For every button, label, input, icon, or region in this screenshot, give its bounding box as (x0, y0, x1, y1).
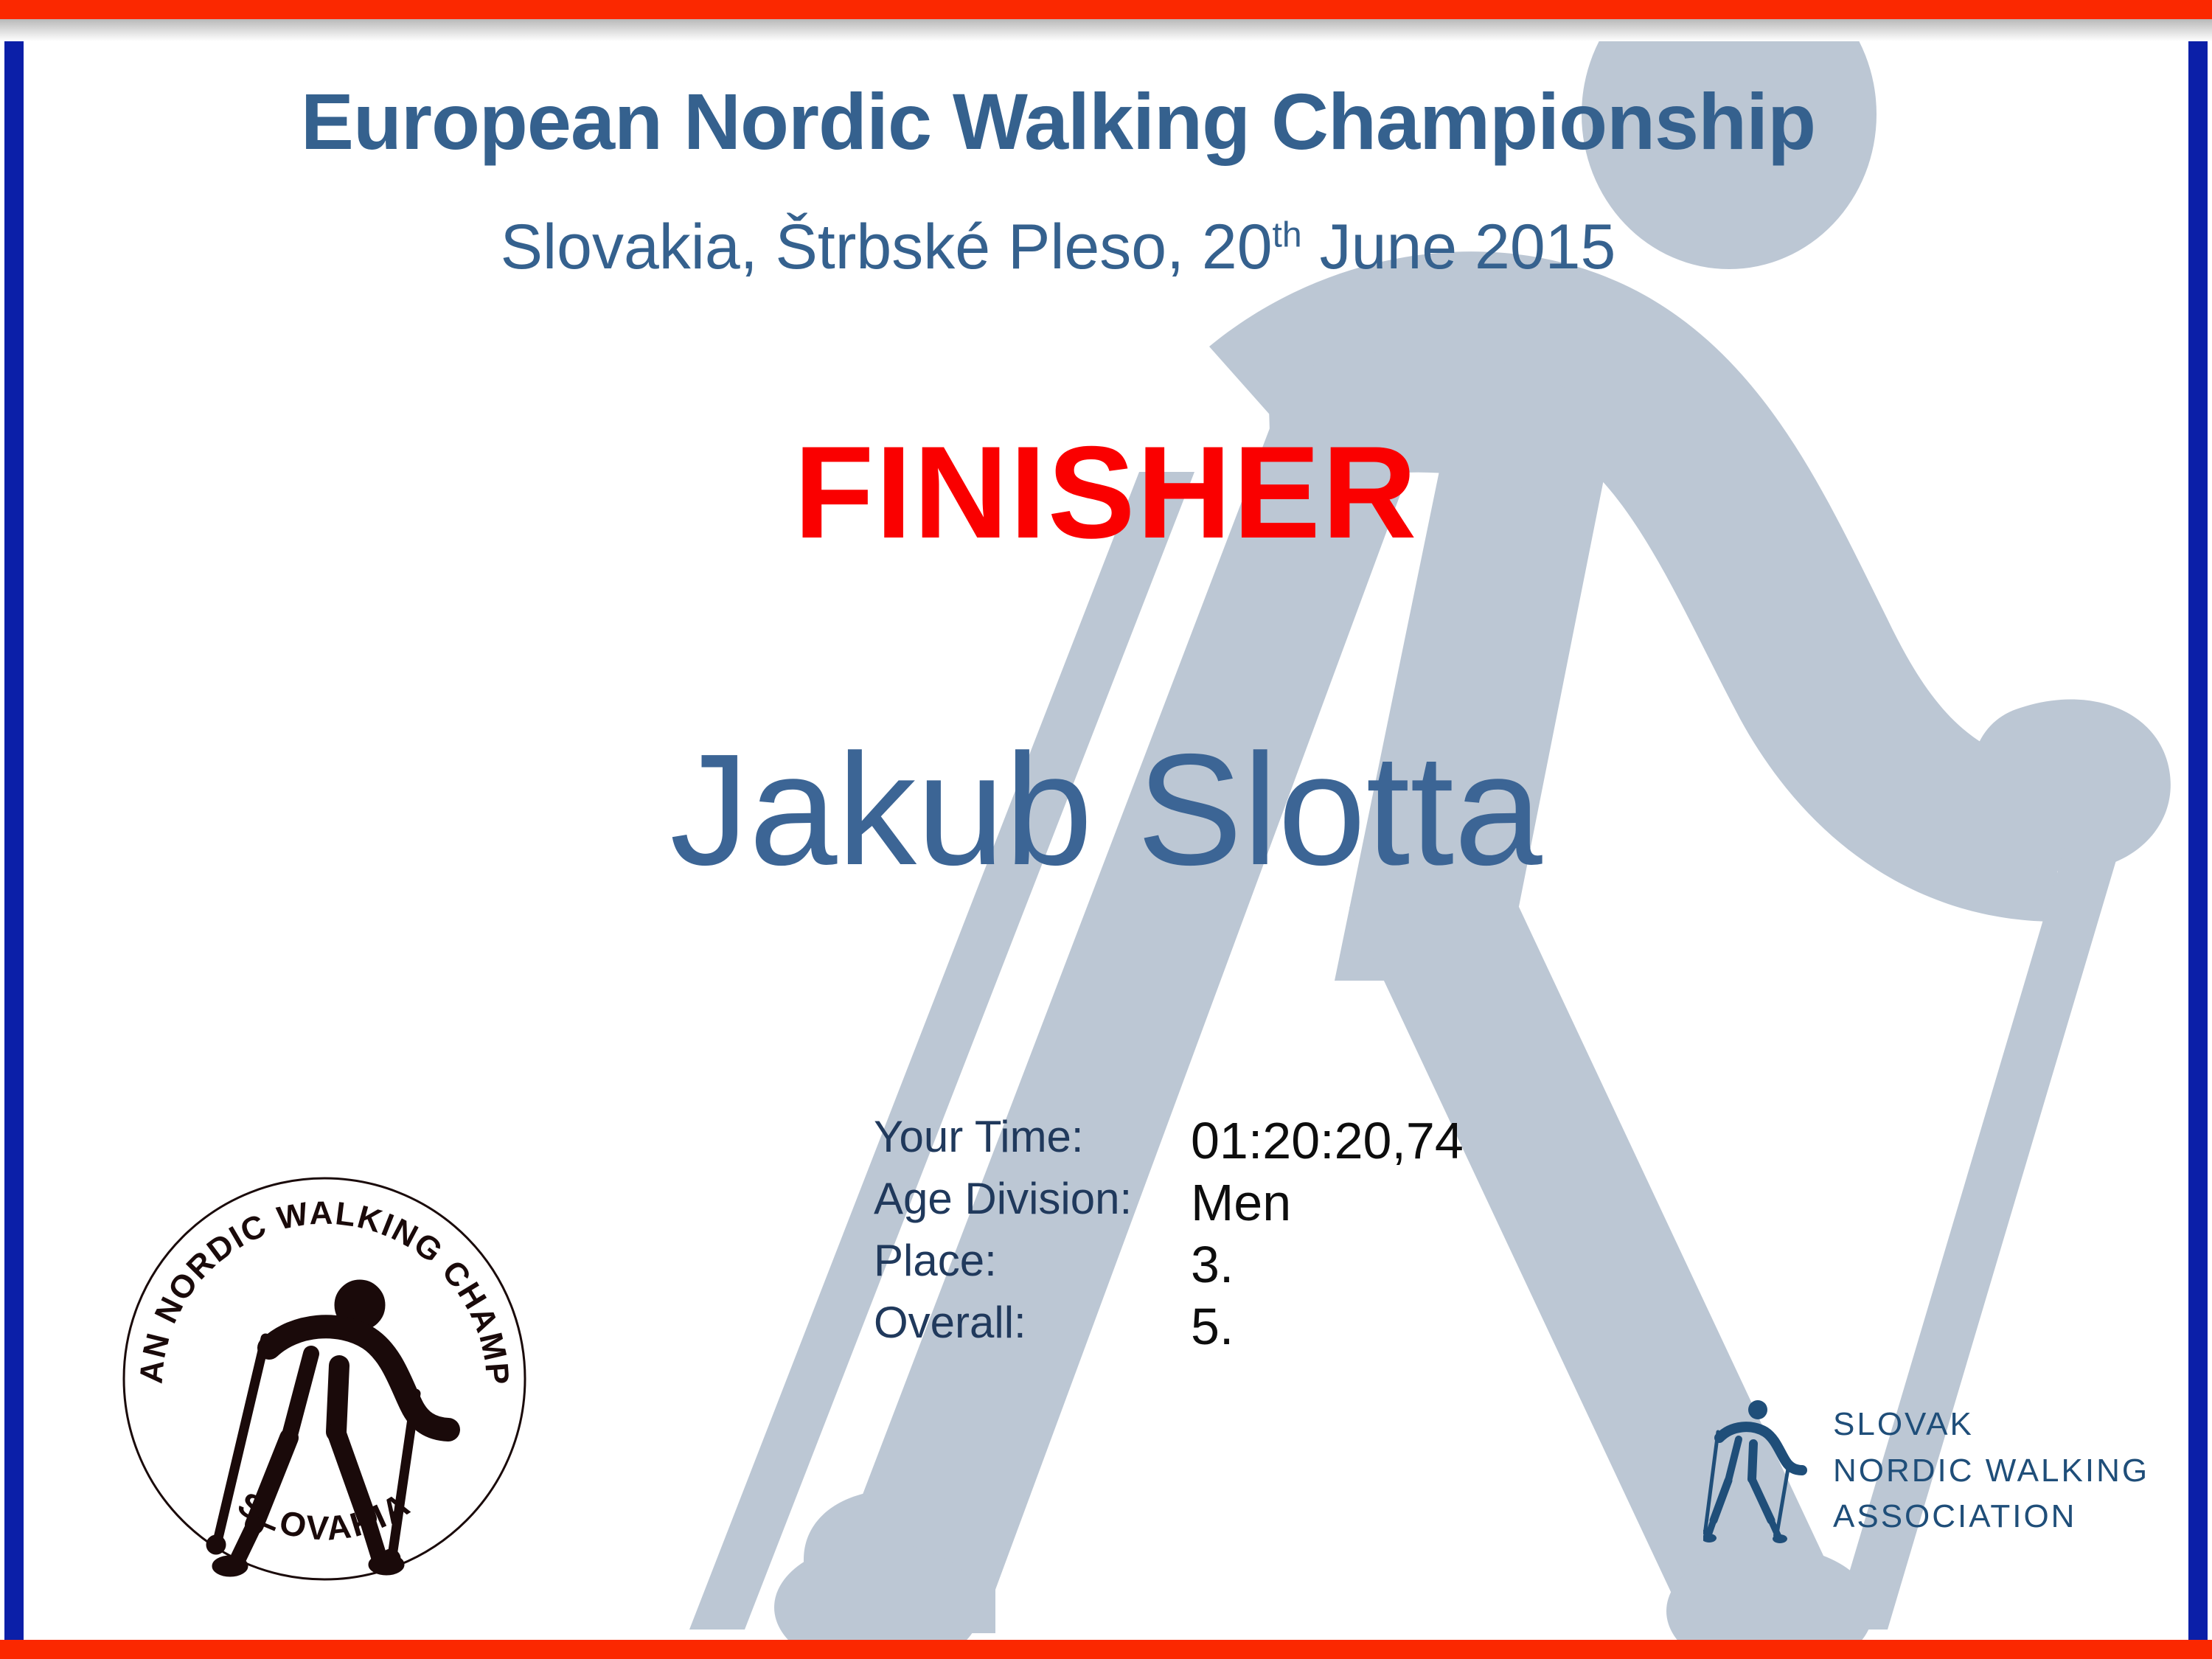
subtitle-location-date: Slovakia, Štrbské Pleso, 20 (501, 212, 1273, 282)
top-bar-shadow (0, 19, 2212, 41)
result-label-overall: Overall: (874, 1301, 1191, 1352)
result-value-place: 3. (1191, 1239, 1464, 1290)
subtitle-month-year: June 2015 (1302, 212, 1616, 282)
association-logo: SLOVAK NORDIC WALKING ASSOCIATION (1703, 1386, 2160, 1556)
result-value-time: 01:20:20,74 (1191, 1115, 1464, 1166)
left-blue-rail (4, 15, 24, 1644)
right-blue-rail (2188, 15, 2208, 1644)
bottom-red-bar (0, 1640, 2212, 1659)
association-name: SLOVAK NORDIC WALKING ASSOCIATION (1833, 1402, 2149, 1540)
status-badge: FINISHER (0, 424, 2212, 562)
page-title: European Nordic Walking Championship (0, 80, 2116, 163)
top-red-bar (0, 0, 2212, 19)
result-label-time: Your Time: (874, 1115, 1191, 1166)
result-label-place: Place: (874, 1239, 1191, 1290)
association-line-1: SLOVAK (1833, 1402, 2149, 1447)
athlete-name: Jakub Slotta (0, 726, 2212, 893)
ordinal-suffix: th (1273, 215, 1302, 254)
association-line-3: ASSOCIATION (1833, 1494, 2149, 1540)
event-subtitle: Slovakia, Štrbské Pleso, 20th June 2015 (0, 214, 2116, 280)
result-value-overall: 5. (1191, 1301, 1464, 1352)
finisher-certificate: European Nordic Walking Championship Slo… (0, 0, 2212, 1659)
result-value-division: Men (1191, 1177, 1464, 1228)
results-table: Your Time: 01:20:20,74 Age Division: Men… (874, 1115, 1464, 1352)
association-line-2: NORDIC WALKING (1833, 1448, 2149, 1494)
result-label-division: Age Division: (874, 1177, 1191, 1228)
championship-seal-logo: EUROPEAN NORDIC WALKING CHAMPIONSHIP SLO… (118, 1172, 531, 1585)
nordic-walker-icon (1703, 1394, 1814, 1548)
